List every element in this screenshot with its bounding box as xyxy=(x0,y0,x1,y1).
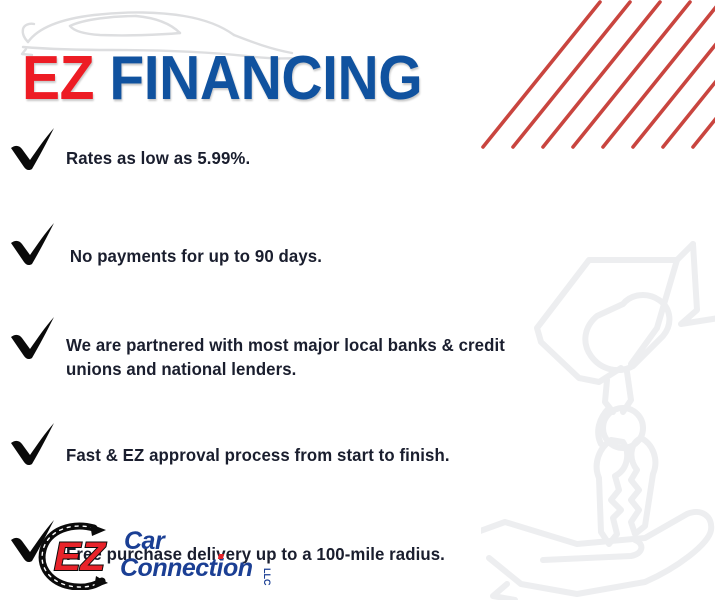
page-title: EZ FINANCING xyxy=(22,48,422,110)
logo-word-two: Connection xyxy=(120,554,253,582)
check-icon xyxy=(0,221,66,267)
check-icon xyxy=(0,315,66,361)
check-icon xyxy=(0,126,66,172)
list-item: We are partnered with most major local b… xyxy=(0,315,560,381)
logo-mark-text: EZ xyxy=(54,535,107,579)
list-item: No payments for up to 90 days. xyxy=(0,221,560,268)
feature-list: Rates as low as 5.99%. No payments for u… xyxy=(0,126,560,566)
logo-suffix: LLC xyxy=(262,568,272,586)
headline-main-word: FINANCING xyxy=(109,44,422,113)
logo-accent-dot xyxy=(218,554,224,559)
ez-financing-flyer: { "canvas": { "width": 715, "height": 60… xyxy=(0,0,715,600)
list-item: Rates as low as 5.99%. xyxy=(0,126,560,172)
list-item-label: No payments for up to 90 days. xyxy=(66,221,322,268)
logo-word-one: Car xyxy=(124,527,166,555)
list-item-label: Rates as low as 5.99%. xyxy=(66,126,250,170)
check-icon xyxy=(0,421,66,467)
brand-logo[interactable]: EZ Car Connection LLC xyxy=(32,516,282,590)
list-item-label: Fast & EZ approval process from start to… xyxy=(66,421,450,467)
headline-accent-word: EZ xyxy=(22,44,94,113)
list-item-label: We are partnered with most major local b… xyxy=(66,315,540,381)
list-item: Fast & EZ approval process from start to… xyxy=(0,421,560,467)
